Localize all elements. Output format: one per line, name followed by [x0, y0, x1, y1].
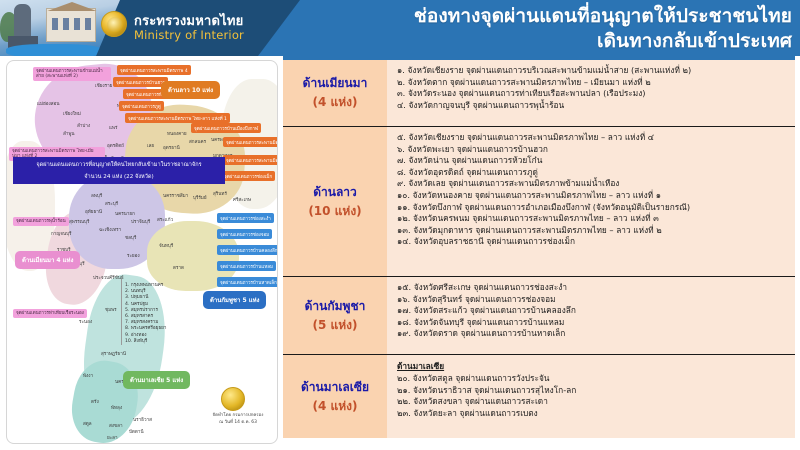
province-label: เลย	[147, 143, 154, 150]
map-badge-cambodia: ด้านกัมพูชา 5 แห่ง	[203, 291, 266, 309]
list-item: ๑๖. จังหวัดสุรินทร์ จุดผ่านแดนถาวรช่องจอ…	[397, 294, 789, 306]
province-label: บุรีรัมย์	[193, 195, 207, 202]
province-label: ปัตตานี	[129, 429, 144, 436]
province-label: ยะลา	[107, 435, 118, 442]
list-item: ๑๔. จังหวัดอุบลราชธานี จุดผ่านแดนถาวรช่อ…	[397, 236, 789, 248]
window-shape	[63, 18, 69, 30]
map-callout-cambodia-4: จุดผ่านแดนถาวรบ้านแหลม	[217, 261, 276, 271]
map-badge-myanmar: ด้านเมียนมา 4 แห่ง	[15, 251, 80, 269]
province-label: ชลบุรี	[125, 235, 136, 242]
province-label: แม่ฮ่องสอน	[37, 101, 60, 108]
province-label: เชียงใหม่	[63, 111, 81, 118]
list-item: ๗. จังหวัดน่าน จุดผ่านแดนถาวรห้วยโก๋น	[397, 155, 789, 167]
category-cell-cambodia: ด้านกัมพูชา (5 แห่ง)	[283, 277, 387, 354]
list-item: ๑๐. จังหวัดหนองคาย จุดผ่านแดนถาวรสะพานมิ…	[397, 190, 789, 202]
province-label: สุรินทร์	[213, 191, 227, 198]
list-item: ๒๑. จังหวัดนราธิวาส จุดผ่านแดนถาวรสุไหงโ…	[397, 385, 789, 397]
list-item: ๖. จังหวัดพะเยา จุดผ่านแดนถาวรบ้านฮวก	[397, 144, 789, 156]
province-label: ลำพูน	[63, 131, 75, 138]
central-province-list: 1. กรุงเทพมหานคร 2. นนทบุรี 3. ปทุมธานี …	[125, 283, 166, 345]
province-label: อุตรดิตถ์	[107, 143, 124, 150]
list-item: ๓. จังหวัดระนอง จุดผ่านแดนถาวรท่าเทียบเร…	[397, 88, 789, 100]
province-label: หนองคาย	[167, 131, 187, 138]
list-item: ๑. จังหวัดเชียงราย จุดผ่านแดนถาวรบริเวณส…	[397, 65, 789, 77]
page-title-line2: เดินทางกลับเข้าประเทศ	[292, 29, 792, 54]
province-label: นครนายก	[115, 211, 135, 218]
map-callout-cambodia-3: จุดผ่านแดนถาวรบ้านคลองลึก	[217, 245, 278, 255]
garuda-emblem-icon	[221, 387, 245, 411]
province-label: ลำปาง	[77, 123, 90, 130]
category-cell-myanmar: ด้านเมียนมา (4 แห่ง)	[283, 60, 387, 126]
province-label: สระบุรี	[105, 201, 118, 208]
list-item: ๘. จังหวัดอุตรดิตถ์ จุดผ่านแดนถาวรภูดู่	[397, 167, 789, 179]
province-label: ระนอง	[79, 319, 92, 326]
thailand-map-panel: เชียงราย เชียงใหม่ แม่ฮ่องสอน พะเยา น่าน…	[6, 60, 278, 444]
province-label: ฉะเชิงเทรา	[99, 227, 121, 234]
category-label: ด้านเมียนมา	[303, 74, 368, 93]
page-title-line1: ช่องทางจุดผ่านแดนที่อนุญาตให้ประชาชนไทย	[292, 4, 792, 29]
section-heading: ด้านมาเลเซีย	[397, 360, 789, 372]
province-label: นครราชสีมา	[163, 193, 188, 200]
map-callout-laos-1: จุดผ่านแดนถาวรสะพานมิตรภาพ 4	[117, 65, 191, 75]
map-callout-myanmar-kanchanaburi: จุดผ่านแดนถาวรพุน้ำร้อน	[13, 217, 69, 226]
category-count: (10 แห่ง)	[308, 202, 361, 221]
list-item: ๕. จังหวัดเชียงราย จุดผ่านแดนถาวรสะพานมิ…	[397, 132, 789, 144]
window-shape	[74, 18, 80, 30]
slide-root: กระทรวงมหาดไทย Ministry of Interior ช่อง…	[0, 0, 800, 450]
province-label: ลพบุรี	[91, 193, 102, 200]
map-callout-laos-9: จุดผ่านแดนถาวรช่องเม็ก	[221, 171, 275, 181]
pool-shape	[6, 44, 102, 56]
category-label: ด้านกัมพูชา	[305, 297, 366, 316]
map-list-divider	[121, 279, 122, 345]
category-count: (4 แห่ง)	[313, 93, 358, 112]
list-item: ๙. จังหวัดเลย จุดผ่านแดนถาวรสะพานมิตรภาพ…	[397, 178, 789, 190]
table-row: ด้านมาเลเซีย (4 แห่ง) ด้านมาเลเซีย ๒๐. จ…	[283, 354, 795, 438]
category-count: (5 แห่ง)	[313, 316, 358, 335]
map-callout-laos-8: จุดผ่านแดนถาวรสะพานมิตรภาพ 2	[223, 155, 278, 165]
province-label: จันทบุรี	[159, 243, 173, 250]
province-label: ระยอง	[127, 253, 140, 260]
list-item: ๑๘. จังหวัดจันทบุรี จุดผ่านแดนถาวรบ้านแห…	[397, 317, 789, 329]
ministry-seal-icon	[101, 11, 127, 37]
page-header: กระทรวงมหาดไทย Ministry of Interior ช่อง…	[0, 0, 800, 56]
province-label: อุดรธานี	[163, 145, 180, 152]
list-item: 8. พระนครศรีอยุธยา	[125, 326, 166, 332]
items-cell-malaysia: ด้านมาเลเซีย ๒๐. จังหวัดสตูล จุดผ่านแดนถ…	[387, 355, 795, 438]
items-cell-myanmar: ๑. จังหวัดเชียงราย จุดผ่านแดนถาวรบริเวณส…	[387, 60, 795, 126]
province-label: เชียงราย	[95, 83, 112, 90]
province-label: นราธิวาส	[133, 417, 152, 424]
province-label: สกลนคร	[189, 139, 206, 146]
map-banner-line2: จำนวน 24 แห่ง (22 จังหวัด)	[13, 171, 225, 183]
table-row: ด้านกัมพูชา (5 แห่ง) ๑๕. จังหวัดศรีสะเกษ…	[283, 276, 795, 354]
province-label: กาญจนบุรี	[51, 231, 72, 238]
map-callout-laos-4: จุดผ่านแดนถาวรภูดู่	[119, 101, 164, 111]
list-item: ๑๗. จังหวัดสระแก้ว จุดผ่านแดนถาวรบ้านคลอ…	[397, 305, 789, 317]
category-label: ด้านมาเลเซีย	[301, 378, 369, 397]
province-label: ประจวบคีรีขันธ์	[93, 275, 124, 282]
list-item: ๑๕. จังหวัดศรีสะเกษ จุดผ่านแดนถาวรช่องสะ…	[397, 282, 789, 294]
province-label: สระแก้ว	[157, 217, 173, 224]
map-callout-cambodia-1: จุดผ่านแดนถาวรช่องสะงำ	[217, 213, 274, 223]
map-callout-cambodia-5: จุดผ่านแดนถาวรบ้านหาดเล็ก	[217, 277, 278, 287]
list-item: ๔. จังหวัดกาญจนบุรี จุดผ่านแดนถาวรพุน้ำร…	[397, 100, 789, 112]
list-item: ๒๐. จังหวัดสตูล จุดผ่านแดนถาวรวังประจัน	[397, 373, 789, 385]
page-title: ช่องทางจุดผ่านแดนที่อนุญาตให้ประชาชนไทย …	[292, 4, 792, 54]
province-label: พัทลุง	[111, 405, 122, 412]
category-cell-malaysia: ด้านมาเลเซีย (4 แห่ง)	[283, 355, 387, 438]
province-label: ตราด	[173, 265, 184, 272]
province-label: ศรีสะเกษ	[233, 197, 251, 204]
province-label: แพร่	[109, 125, 117, 132]
category-cell-laos: ด้านลาว (10 แห่ง)	[283, 127, 387, 276]
statue-shape	[14, 4, 31, 38]
province-label: ปราจีนบุรี	[131, 219, 150, 226]
map-credit: จัดทำโดย กรมการปกครอง ณ วันที่ 14 ต.ค. 6…	[203, 413, 273, 426]
province-label: สตูล	[83, 421, 92, 428]
window-shape	[52, 18, 58, 30]
ministry-name-english: Ministry of Interior	[134, 28, 244, 42]
items-cell-laos: ๕. จังหวัดเชียงราย จุดผ่านแดนถาวรสะพานมิ…	[387, 127, 795, 276]
list-item: ๑๑. จังหวัดบึงกาฬ จุดผ่านแดนถาวรอำเภอเมื…	[397, 202, 789, 214]
map-callout-myanmar-chiangrai: จุดผ่านแดนถาวรสะพานข้ามแม่น้ำสาย (สะพานแ…	[33, 67, 111, 81]
category-label: ด้านลาว	[313, 183, 357, 202]
map-banner: จุดผ่านแดนแดนถาวรที่อนุญาตให้คนไทยกลับเข…	[13, 157, 225, 184]
items-cell-cambodia: ๑๕. จังหวัดศรีสะเกษ จุดผ่านแดนถาวรช่องสะ…	[387, 277, 795, 354]
window-shape	[85, 18, 91, 30]
list-item: ๑๓. จังหวัดมุกดาหาร จุดผ่านแดนถาวรสะพานม…	[397, 225, 789, 237]
map-badge-malaysia: ด้านมาเลเซีย 5 แห่ง	[123, 371, 190, 389]
map-callout-myanmar-ranong: จุดผ่านแดนถาวรท่าเทียบเรือระนอง	[13, 309, 87, 318]
border-checkpoints-table: ด้านเมียนมา (4 แห่ง) ๑. จังหวัดเชียงราย …	[283, 60, 795, 444]
map-callout-laos-6: จุดผ่านแดนถาวรบ้านเมืองบึงกาฬ	[191, 123, 261, 133]
map-credit-line1: จัดทำโดย กรมการปกครอง	[203, 413, 273, 420]
province-label: สุราษฎร์ธานี	[101, 351, 126, 358]
category-count: (4 แห่ง)	[313, 397, 358, 416]
province-label: อุทัยธานี	[85, 209, 102, 216]
province-label: ชุมพร	[105, 307, 117, 314]
list-item: ๒๒. จังหวัดสงขลา จุดผ่านแดนถาวรสะเดา	[397, 396, 789, 408]
list-item: ๒๓. จังหวัดยะลา จุดผ่านแดนถาวรเบตง	[397, 408, 789, 420]
map-credit-line2: ณ วันที่ 14 ต.ค. 63	[203, 420, 273, 427]
list-item: 10. สิงห์บุรี	[125, 339, 166, 345]
list-item: ๑๒. จังหวัดนครพนม จุดผ่านแดนถาวรสะพานมิต…	[397, 213, 789, 225]
table-row: ด้านเมียนมา (4 แห่ง) ๑. จังหวัดเชียงราย …	[283, 60, 795, 126]
map-banner-line1: จุดผ่านแดนแดนถาวรที่อนุญาตให้คนไทยกลับเข…	[13, 159, 225, 171]
province-label: ตรัง	[91, 399, 99, 406]
map-callout-laos-5: จุดผ่านแดนถาวรสะพานมิตรภาพ ไทย-ลาว แห่งท…	[125, 113, 230, 123]
list-item: ๒. จังหวัดตาก จุดผ่านแดนถาวรสะพานมิตรภาพ…	[397, 77, 789, 89]
list-item: ๑๙. จังหวัดตราด จุดผ่านแดนถาวรบ้านหาดเล็…	[397, 328, 789, 340]
province-label: สงขลา	[109, 423, 123, 430]
province-label: สุพรรณบุรี	[69, 219, 89, 226]
table-row: ด้านลาว (10 แห่ง) ๕. จังหวัดเชียงราย จุด…	[283, 126, 795, 276]
map-callout-cambodia-2: จุดผ่านแดนถาวรช่องจอม	[217, 229, 272, 239]
province-label: พังงา	[83, 373, 93, 380]
map-badge-laos: ด้านลาว 10 แห่ง	[161, 81, 220, 99]
map-callout-laos-7: จุดผ่านแดนถาวรสะพานมิตรภาพ 3	[223, 137, 278, 147]
